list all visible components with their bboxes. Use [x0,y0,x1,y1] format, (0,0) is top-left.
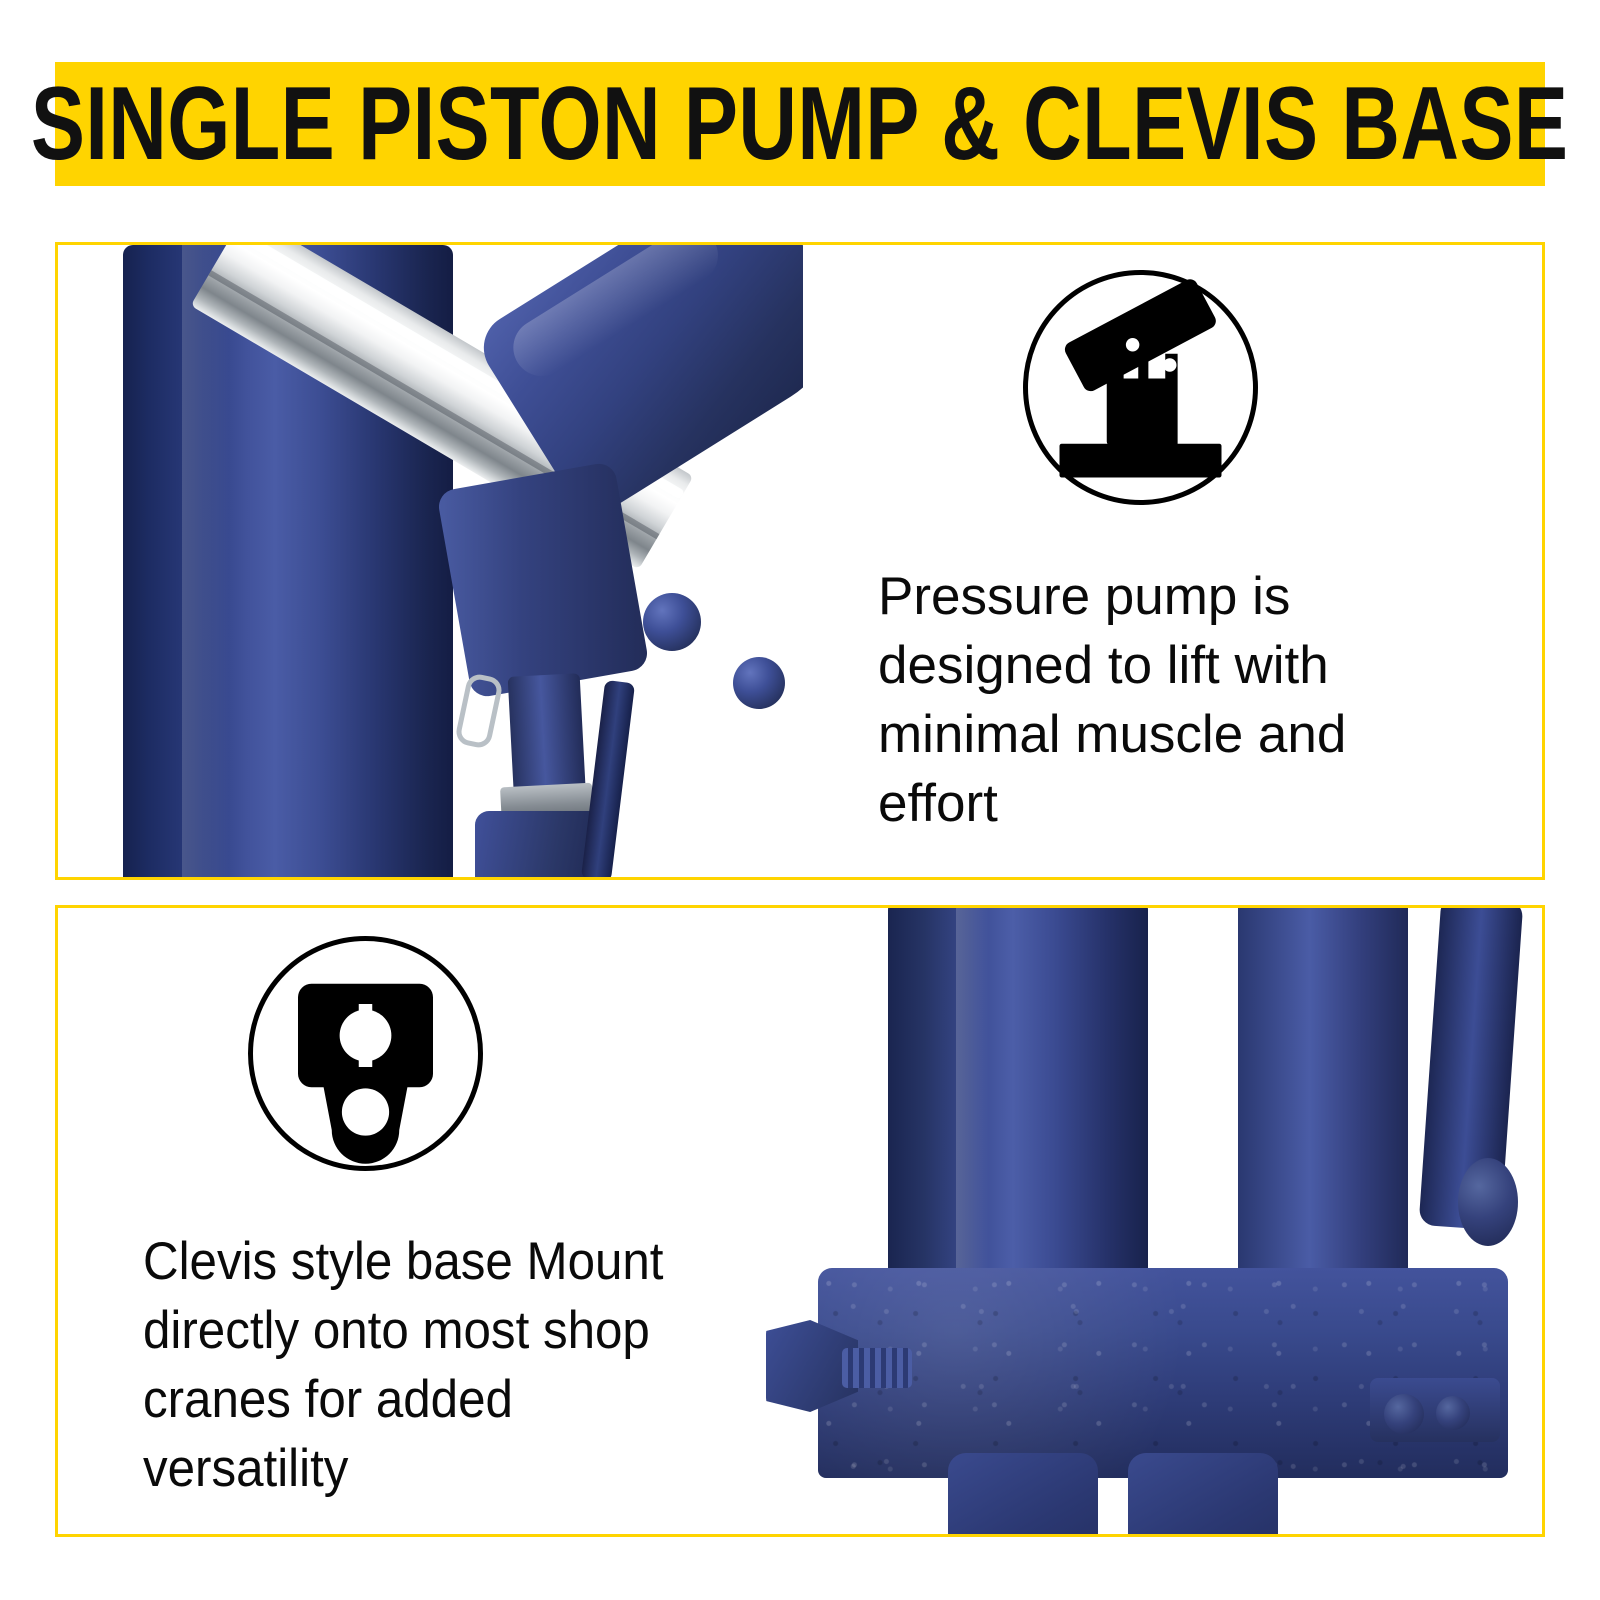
feature-panel-clevis-base: Clevis style base Mount directly onto mo… [55,905,1545,1537]
lever-rivet-icon [733,657,785,709]
lever-arm [581,680,635,877]
release-valve-stem [842,1348,912,1388]
feature-text-clevis-base: Clevis style base Mount directly onto mo… [143,1228,710,1504]
clevis-base-block [818,1268,1508,1478]
base-boss-dot-icon [1436,1396,1470,1430]
feature-text-pressure-pump: Pressure pump is designed to lift with m… [878,563,1478,839]
clevis-lug [1128,1453,1278,1534]
single-piston-pump-lever-photo [123,245,803,877]
hydraulic-lift-pump-icon [1023,270,1258,505]
header-banner: SINGLE PISTON PUMP & CLEVIS BASE [55,62,1545,186]
clevis-lug [948,1453,1098,1534]
pump-lever-neck [436,461,650,699]
lever-rivet-icon [643,593,701,651]
feature-panel-pressure-pump: Pressure pump is designed to lift with m… [55,242,1545,880]
ram-cylinder-tube [888,908,1148,1328]
pump-cylinder [1238,908,1408,1298]
clevis-base-mount-icon [248,936,483,1171]
cotter-pin-icon [454,672,504,750]
clevis-base-photo [758,908,1542,1534]
handle-pivot-boss-icon [1458,1158,1518,1246]
base-boss-dot-icon [1384,1394,1424,1434]
page-title: SINGLE PISTON PUMP & CLEVIS BASE [31,72,1569,176]
